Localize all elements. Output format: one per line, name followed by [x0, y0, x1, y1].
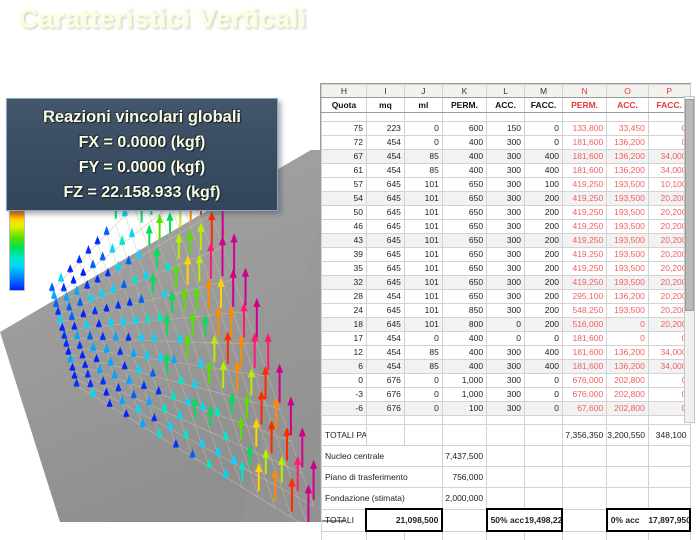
- cell: 419,250: [562, 262, 606, 276]
- empty-cell: [607, 446, 649, 467]
- fx-value: FX = 0.0000 (kgf): [7, 130, 277, 155]
- cell: 0: [322, 374, 367, 388]
- loads-table[interactable]: HIJKLMNOPQuotamqmlPERM.ACC.FACC.PERM.ACC…: [321, 84, 691, 540]
- reaction-vector: [237, 417, 244, 440]
- empty-cell: [322, 531, 367, 540]
- reaction-vector: [163, 313, 170, 335]
- totali-row: TOTALI21,098,50050% acc19,498,2250% acc1…: [322, 509, 691, 531]
- cell: 295,100: [562, 290, 606, 304]
- column-letter-J[interactable]: J: [404, 85, 442, 98]
- empty-cell: [525, 488, 563, 510]
- cell: 200: [525, 290, 563, 304]
- cell: 200: [525, 318, 563, 332]
- cell: 200: [525, 276, 563, 290]
- cell: 650: [442, 234, 486, 248]
- cell: 85: [404, 346, 442, 360]
- cell: 101: [404, 304, 442, 318]
- empty-cell: [525, 531, 563, 540]
- cell: 300: [487, 164, 525, 178]
- column-letter-row: HIJKLMNOP: [322, 85, 691, 98]
- reaction-vector: [69, 363, 75, 371]
- table-row[interactable]: -367601,0003000676,000202,8000: [322, 388, 691, 402]
- reaction-vector: [238, 335, 245, 367]
- table-row[interactable]: 24645101850300200548,250193,50020,200: [322, 304, 691, 318]
- reaction-vector: [191, 397, 198, 419]
- cell: 650: [442, 192, 486, 206]
- reaction-vector: [161, 402, 167, 412]
- totali-parziali-perm: 7,356,350: [562, 425, 606, 446]
- cell: 101: [404, 192, 442, 206]
- cell: 300: [487, 220, 525, 234]
- reaction-vector: [163, 352, 170, 373]
- cell: 12: [322, 346, 367, 360]
- column-letter-O[interactable]: O: [607, 85, 649, 98]
- cell: 600: [442, 122, 486, 136]
- table-row[interactable]: 32645101650300200419,250193,50020,200: [322, 276, 691, 290]
- empty-cell: [607, 467, 649, 488]
- cell: 101: [404, 178, 442, 192]
- cell: 57: [322, 178, 367, 192]
- reaction-vector: [206, 458, 212, 468]
- reaction-vector: [228, 306, 235, 337]
- reaction-vector: [85, 245, 91, 254]
- cell: 67: [322, 150, 367, 164]
- table-row[interactable]: 39645101650300200419,250193,50020,200: [322, 248, 691, 262]
- empty-cell: [442, 531, 486, 540]
- reaction-vector: [258, 390, 265, 424]
- cell: 650: [442, 220, 486, 234]
- table-row[interactable]: 7522306001500133,80033,4500: [322, 122, 691, 136]
- reaction-vector: [158, 351, 164, 361]
- column-letter-L[interactable]: L: [487, 85, 525, 98]
- spacer-cell: [562, 113, 606, 122]
- reaction-vector: [219, 236, 226, 276]
- table-row[interactable]: 57645101650300100419,250193,50010,100: [322, 178, 691, 192]
- reaction-vector: [157, 311, 163, 321]
- totali-parziali-label: TOTALI PARZIALI: [322, 425, 367, 446]
- fz-value: FZ = 22.158.933 (kgf): [7, 180, 277, 205]
- cell: 300: [487, 304, 525, 318]
- cell: -3: [322, 388, 367, 402]
- cell: 300: [487, 290, 525, 304]
- header-cell: ACC.: [607, 98, 649, 113]
- cell: 136,200: [607, 360, 649, 374]
- acc0-label: 0% acc: [607, 509, 649, 531]
- cell: 202,800: [607, 374, 649, 388]
- cell: 181,600: [562, 136, 606, 150]
- table-row[interactable]: 186451018000200516,000020,200: [322, 318, 691, 332]
- spacer-cell: [487, 113, 525, 122]
- cell: 200: [525, 248, 563, 262]
- reaction-vector: [59, 323, 65, 331]
- cell: 193,500: [607, 192, 649, 206]
- empty-cell: [487, 425, 525, 446]
- reaction-vector: [243, 394, 250, 419]
- reaction-vector: [76, 255, 82, 264]
- reaction-vector: [82, 360, 88, 368]
- cell: 0: [525, 402, 563, 416]
- cell: 650: [442, 248, 486, 262]
- cell: 193,500: [607, 262, 649, 276]
- cell: 0: [404, 332, 442, 346]
- cell: 419,250: [562, 234, 606, 248]
- empty-cell: [487, 488, 525, 510]
- cell: 645: [366, 276, 404, 290]
- scrollbar-thumb[interactable]: [685, 99, 694, 311]
- cell: 676: [366, 374, 404, 388]
- cell: 181,600: [562, 150, 606, 164]
- reaction-vector: [234, 360, 241, 391]
- reaction-vector: [61, 330, 67, 339]
- spacer-cell: [322, 416, 367, 425]
- cell: 300: [487, 206, 525, 220]
- cell: 419,250: [562, 220, 606, 234]
- sheet-vertical-scrollbar[interactable]: [684, 96, 695, 423]
- spacer-cell: [525, 113, 563, 122]
- reaction-vector: [67, 264, 73, 272]
- cell: 200: [525, 220, 563, 234]
- table-row[interactable]: 54645101650300200419,250193,50020,200: [322, 192, 691, 206]
- header-cell: PERM.: [442, 98, 486, 113]
- cell: 300: [487, 360, 525, 374]
- table-row[interactable]: 6145485400300400181,600136,20034,000: [322, 164, 691, 178]
- column-letter-N[interactable]: N: [562, 85, 606, 98]
- reaction-vector: [253, 298, 260, 338]
- table-row[interactable]: 46645101650300200419,250193,50020,200: [322, 220, 691, 234]
- spacer-cell: [525, 416, 563, 425]
- reaction-vector: [231, 233, 238, 273]
- reaction-vector: [202, 315, 209, 337]
- reaction-vector: [231, 454, 237, 464]
- empty-cell: [366, 531, 404, 540]
- extra-row: Nucleo centrale7,437,500: [322, 446, 691, 467]
- cell: 6: [322, 360, 367, 374]
- reaction-vector: [119, 235, 125, 245]
- table-row[interactable]: 35645101650300200419,250193,50020,200: [322, 262, 691, 276]
- empty-cell: [648, 531, 690, 540]
- totali-parziali-row: TOTALI PARZIALI7,356,3503,200,550348,100: [322, 425, 691, 446]
- cell: 300: [487, 234, 525, 248]
- cell: 33,450: [607, 122, 649, 136]
- cell: 200: [525, 262, 563, 276]
- cell: 419,250: [562, 192, 606, 206]
- cell: 400: [525, 164, 563, 178]
- cell: 300: [487, 248, 525, 262]
- empty-cell: [648, 488, 690, 510]
- cell: 454: [366, 332, 404, 346]
- reaction-vector: [230, 269, 237, 307]
- cell: 676,000: [562, 388, 606, 402]
- table-row[interactable]: 6745485400300400181,600136,20034,000: [322, 150, 691, 164]
- cell: 300: [487, 150, 525, 164]
- column-letter-K[interactable]: K: [442, 85, 486, 98]
- cell: 43: [322, 234, 367, 248]
- reaction-vector: [223, 429, 229, 440]
- reaction-vector: [189, 312, 196, 336]
- cell: 136,200: [607, 164, 649, 178]
- cell: 0: [607, 332, 649, 346]
- cell: 400: [525, 150, 563, 164]
- reaction-vector: [166, 212, 173, 233]
- cell: 454: [366, 290, 404, 304]
- reaction-vector: [207, 405, 214, 426]
- spreadsheet-panel[interactable]: HIJKLMNOPQuotamqmlPERM.ACC.FACC.PERM.ACC…: [320, 83, 691, 520]
- cell: 645: [366, 178, 404, 192]
- table-row[interactable]: 067601,0003000676,000202,8000: [322, 374, 691, 388]
- table-row[interactable]: 28454101650300200295,100136,20020,200: [322, 290, 691, 304]
- empty-cell: [442, 509, 486, 531]
- reaction-vector: [200, 400, 206, 410]
- reaction-vector: [287, 396, 294, 435]
- reaction-vector: [193, 287, 200, 311]
- cell: 0: [525, 122, 563, 136]
- reaction-vector: [146, 225, 153, 246]
- reaction-vector: [215, 445, 221, 455]
- reaction-vector: [288, 478, 295, 512]
- reaction-vector: [184, 334, 191, 359]
- cell: 676: [366, 402, 404, 416]
- cell: 136,200: [607, 346, 649, 360]
- cell: 101: [404, 220, 442, 234]
- spacer-cell: [366, 113, 404, 122]
- cell: 200: [525, 206, 563, 220]
- column-letter-M[interactable]: M: [525, 85, 563, 98]
- cell: 133,800: [562, 122, 606, 136]
- reaction-vector: [132, 273, 138, 284]
- cell: 101: [404, 234, 442, 248]
- reaction-vector: [74, 378, 80, 387]
- table-row[interactable]: 17454040000181,60000: [322, 332, 691, 346]
- cell: 75: [322, 122, 367, 136]
- cell: 400: [442, 332, 486, 346]
- cell: 0: [404, 402, 442, 416]
- column-letter-H[interactable]: H: [322, 85, 367, 98]
- reaction-vector: [79, 350, 85, 358]
- reaction-vector: [208, 211, 215, 245]
- empty-cell: [525, 425, 563, 446]
- extra-row: Piano di trasferimento756,000: [322, 467, 691, 488]
- cell: 101: [404, 206, 442, 220]
- empty-cell: [525, 446, 563, 467]
- mesh-line: [72, 370, 302, 474]
- empty-cell: [487, 446, 525, 467]
- cell: 300: [487, 346, 525, 360]
- cell: 85: [404, 164, 442, 178]
- spacer-cell: [487, 416, 525, 425]
- mesh-line: [70, 362, 291, 441]
- header-cell: ACC.: [487, 98, 525, 113]
- cell: 54: [322, 192, 367, 206]
- cell: 800: [442, 318, 486, 332]
- totali-label: TOTALI: [322, 509, 367, 531]
- cell: 1,000: [442, 388, 486, 402]
- reaction-vector: [185, 395, 191, 405]
- reaction-vector: [239, 461, 246, 482]
- cell: 300: [487, 374, 525, 388]
- cell: 17: [322, 332, 367, 346]
- empty-cell: [442, 425, 486, 446]
- reaction-vector: [165, 260, 171, 270]
- cell: 181,600: [562, 332, 606, 346]
- cell: 400: [442, 360, 486, 374]
- table-row[interactable]: -66760100300067,600202,8000: [322, 402, 691, 416]
- spacer-cell: [442, 113, 486, 122]
- cell: 181,600: [562, 346, 606, 360]
- cell: 0: [525, 136, 563, 150]
- reaction-vector: [151, 332, 157, 342]
- cell: 193,500: [607, 234, 649, 248]
- spacer-cell: [404, 113, 442, 122]
- acc50-label: 50% acc: [487, 509, 525, 531]
- spacer-cell: [442, 416, 486, 425]
- cell: 676,000: [562, 374, 606, 388]
- cell: 400: [525, 346, 563, 360]
- cell: 61: [322, 164, 367, 178]
- table-row[interactable]: 50645101650300200419,250193,50020,200: [322, 206, 691, 220]
- global-reactions-box: Reazioni vincolari globali FX = 0.0000 (…: [6, 98, 278, 211]
- cell: 0: [404, 388, 442, 402]
- reactions-heading: Reazioni vincolari globali: [7, 105, 277, 130]
- cell: 300: [487, 402, 525, 416]
- spacer-cell: [366, 416, 404, 425]
- cell: 300: [487, 388, 525, 402]
- reaction-vector: [265, 333, 272, 370]
- empty-cell: [366, 425, 404, 446]
- reaction-vector: [178, 374, 184, 384]
- header-cell: FACC.: [525, 98, 563, 113]
- reaction-vector: [186, 230, 193, 254]
- cell: 0: [487, 318, 525, 332]
- cell: 400: [442, 150, 486, 164]
- table-row[interactable]: 1245485400300400181,600136,20034,000: [322, 346, 691, 360]
- cell: 400: [525, 360, 563, 374]
- reaction-vector: [272, 469, 279, 502]
- extra-row: Fondazione (stimata)2,000,000: [322, 488, 691, 510]
- cell: 850: [442, 304, 486, 318]
- cell: 454: [366, 136, 404, 150]
- table-row[interactable]: 43645101650300200419,250193,50020,200: [322, 234, 691, 248]
- cell: 454: [366, 164, 404, 178]
- cell: 454: [366, 360, 404, 374]
- cell: -6: [322, 402, 367, 416]
- empty-cell: [562, 531, 606, 540]
- cell: 645: [366, 318, 404, 332]
- cell: 0: [404, 374, 442, 388]
- cell: 0: [607, 318, 649, 332]
- reaction-vector: [183, 428, 189, 438]
- reaction-vector: [170, 390, 176, 400]
- cell: 645: [366, 234, 404, 248]
- cell: 67,600: [562, 402, 606, 416]
- empty-cell: [525, 467, 563, 488]
- cell: 193,500: [607, 220, 649, 234]
- cell: 0: [525, 332, 563, 346]
- cell: 85: [404, 360, 442, 374]
- reaction-vector: [173, 264, 180, 288]
- cell: 193,500: [607, 304, 649, 318]
- reaction-vector: [217, 278, 224, 308]
- empty-cell: [562, 446, 606, 467]
- cell: 193,500: [607, 248, 649, 262]
- header-cell: mq: [366, 98, 404, 113]
- reaction-vector: [262, 449, 269, 475]
- cell: 300: [487, 192, 525, 206]
- reaction-vector: [214, 405, 220, 415]
- empty-cell: [562, 509, 606, 531]
- table-row[interactable]: 645485400300400181,600136,20034,000: [322, 360, 691, 374]
- cell: 101: [404, 276, 442, 290]
- cell: 0: [404, 136, 442, 150]
- spacer-row: [322, 416, 691, 425]
- empty-cell: [607, 488, 649, 510]
- cell: 18: [322, 318, 367, 332]
- cell: 1,000: [442, 374, 486, 388]
- reaction-vector: [305, 484, 312, 522]
- reaction-vector: [95, 236, 101, 245]
- reaction-vector: [207, 242, 214, 279]
- cell: 419,250: [562, 178, 606, 192]
- cell: 202,800: [607, 402, 649, 416]
- empty-cell: [404, 425, 442, 446]
- cell: 100: [525, 178, 563, 192]
- cell: 181,600: [562, 360, 606, 374]
- cell: 46: [322, 220, 367, 234]
- extra-label: Fondazione (stimata): [322, 488, 443, 510]
- cell: 0: [487, 332, 525, 346]
- empty-cell: [562, 467, 606, 488]
- empty-cell: [648, 467, 690, 488]
- reaction-vector: [276, 364, 283, 403]
- reaction-vector: [71, 322, 77, 330]
- reaction-vector: [198, 357, 204, 367]
- cell: 300: [487, 276, 525, 290]
- cell: 24: [322, 304, 367, 318]
- cell: 516,000: [562, 318, 606, 332]
- cell: 193,500: [607, 276, 649, 290]
- reaction-vector: [223, 468, 229, 478]
- totali-total-value: 21,098,500: [366, 509, 442, 531]
- cell: 548,250: [562, 304, 606, 318]
- spacer-cell: [607, 113, 649, 122]
- empty-cell: [404, 531, 442, 540]
- cell: 202,800: [607, 388, 649, 402]
- fy-value: FY = 0.0000 (kgf): [7, 155, 277, 180]
- acc0-value: 17,897,950: [648, 509, 690, 531]
- reaction-vector: [145, 312, 151, 322]
- cell: 645: [366, 220, 404, 234]
- cell: 35: [322, 262, 367, 276]
- table-row[interactable]: 7245404003000181,600136,2000: [322, 136, 691, 150]
- cell: 645: [366, 262, 404, 276]
- reaction-vector: [115, 260, 121, 270]
- cell: 0: [404, 122, 442, 136]
- cell: 200: [525, 304, 563, 318]
- extra-label: Piano di trasferimento: [322, 467, 443, 488]
- cell: 419,250: [562, 276, 606, 290]
- reaction-vector: [215, 306, 222, 337]
- cell: 400: [442, 346, 486, 360]
- cell: 419,250: [562, 206, 606, 220]
- cell: 645: [366, 248, 404, 262]
- spacer-row: [322, 531, 691, 540]
- spacer-row: [322, 113, 691, 122]
- reaction-vector: [240, 302, 247, 337]
- column-letter-I[interactable]: I: [366, 85, 404, 98]
- empty-cell: [487, 467, 525, 488]
- reaction-vector: [175, 233, 182, 259]
- cell: 650: [442, 206, 486, 220]
- cell: 645: [366, 206, 404, 220]
